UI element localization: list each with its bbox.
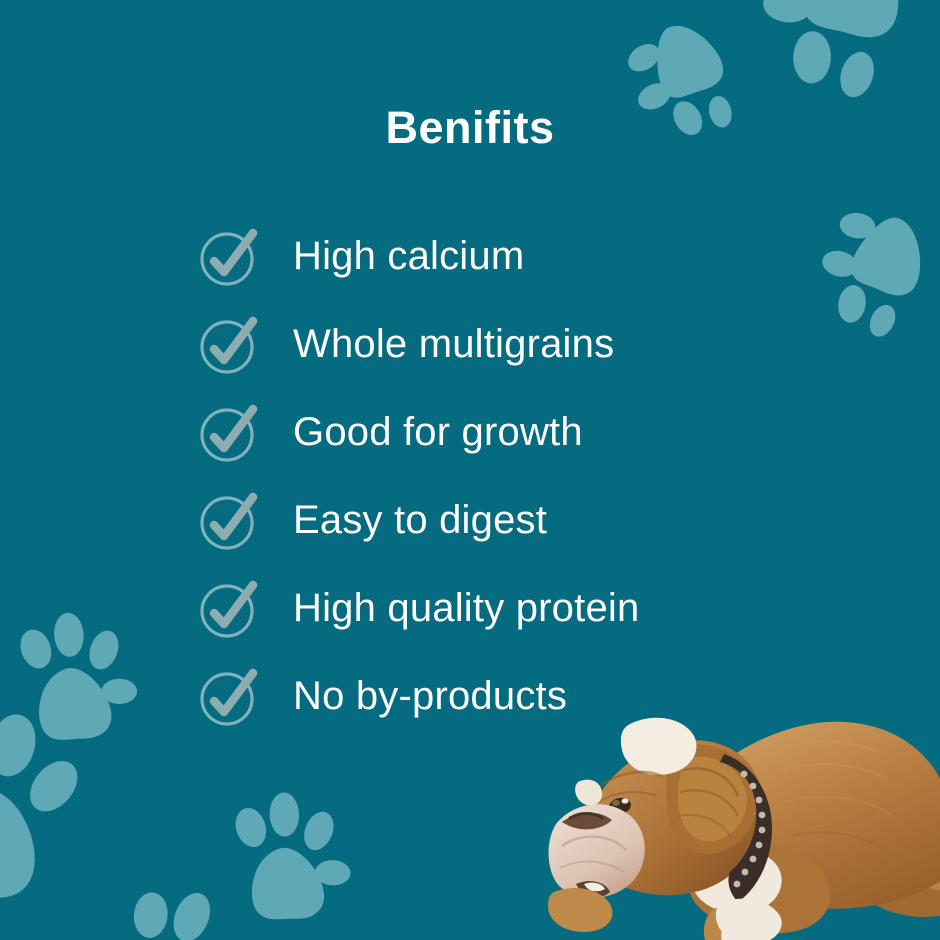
- benefits-graphic: Benifits High calcium Whole multigrains: [0, 0, 940, 940]
- list-item-label: Good for growth: [293, 409, 583, 455]
- paw-print-bottom-left-edge: [87, 869, 272, 940]
- paw-print-bottom-center: [222, 783, 362, 932]
- list-item: High calcium: [196, 212, 896, 300]
- list-item: Whole multigrains: [196, 300, 896, 388]
- list-item-label: No by-products: [293, 673, 567, 719]
- check-circle-icon: [196, 663, 262, 729]
- list-item-label: High quality protein: [293, 585, 639, 631]
- list-item-label: Easy to digest: [293, 497, 547, 543]
- list-item: Easy to digest: [196, 476, 896, 564]
- check-circle-icon: [196, 575, 262, 641]
- list-item: High quality protein: [196, 564, 896, 652]
- check-circle-icon: [196, 399, 262, 465]
- list-item-label: High calcium: [293, 233, 524, 279]
- list-item-label: Whole multigrains: [293, 321, 614, 367]
- list-item: No by-products: [196, 652, 896, 740]
- page-title: Benifits: [0, 100, 940, 156]
- list-item: Good for growth: [196, 388, 896, 476]
- benefits-list: High calcium Whole multigrains Good for …: [196, 212, 896, 740]
- check-circle-icon: [196, 487, 262, 553]
- paw-print-left-lower: [0, 691, 108, 914]
- check-circle-icon: [196, 223, 262, 289]
- check-circle-icon: [196, 311, 262, 377]
- paw-print-left-mid: [6, 601, 150, 754]
